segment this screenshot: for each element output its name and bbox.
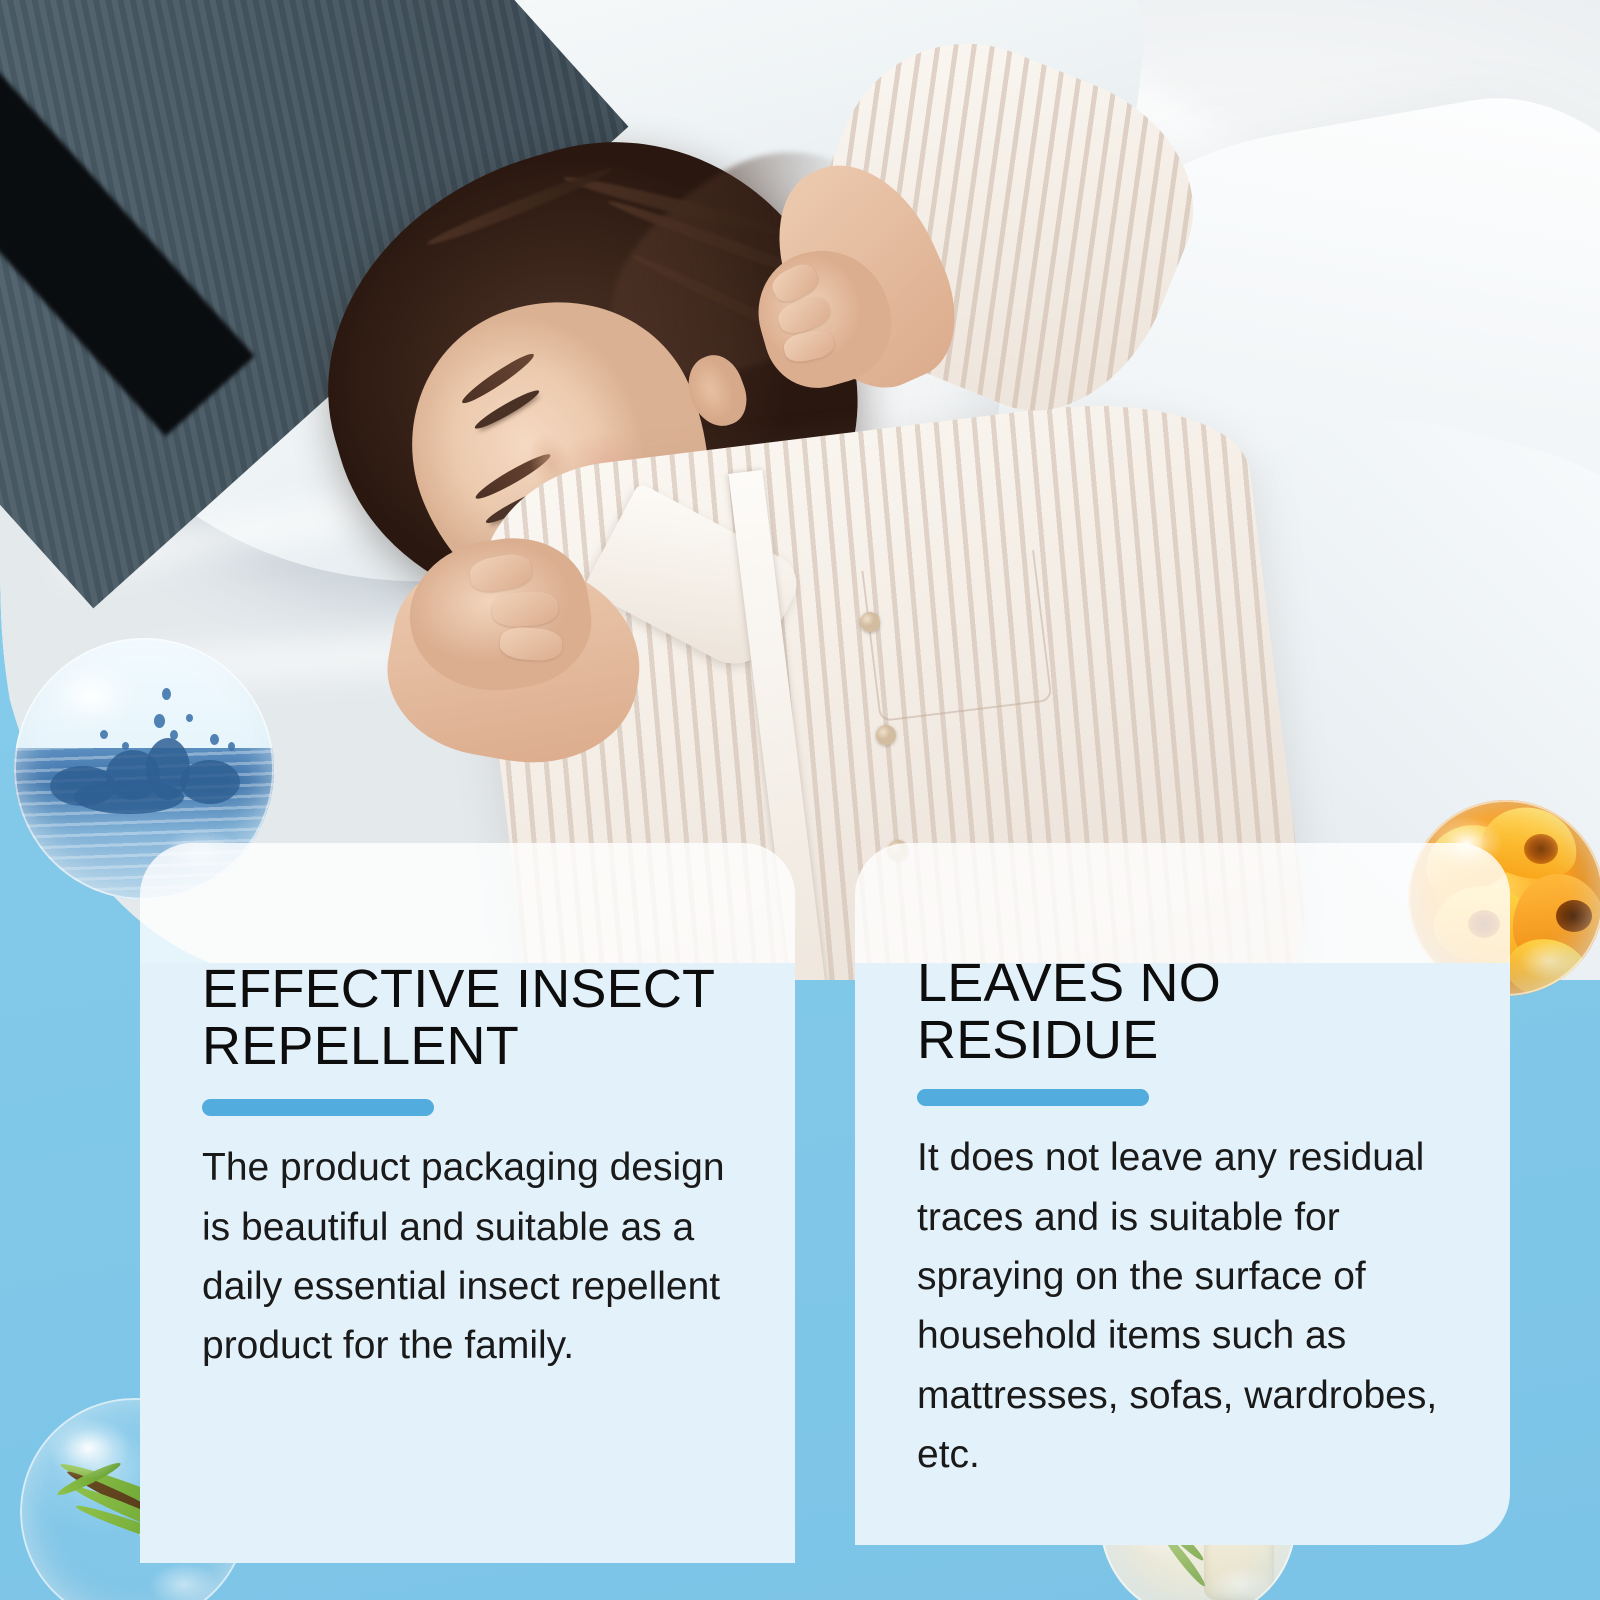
shirt-button — [860, 612, 880, 632]
accent-bar — [202, 1099, 434, 1116]
shirt-button — [876, 725, 896, 745]
shirt-pocket — [861, 550, 1052, 722]
card-title: LEAVES NO RESIDUE — [917, 955, 1452, 1069]
accent-bar — [917, 1089, 1149, 1106]
feature-card-no-residue[interactable]: LEAVES NO RESIDUE It does not leave any … — [855, 843, 1510, 1545]
card-body-text: The product packaging design is beautifu… — [202, 1138, 737, 1375]
banner-stage: EFFECTIVE INSECT REPELLENT The product p… — [0, 0, 1600, 1600]
card-body-text: It does not leave any residual traces an… — [917, 1128, 1452, 1484]
feature-card-insect-repellent[interactable]: EFFECTIVE INSECT REPELLENT The product p… — [140, 843, 795, 1563]
card-title: EFFECTIVE INSECT REPELLENT — [202, 961, 737, 1075]
